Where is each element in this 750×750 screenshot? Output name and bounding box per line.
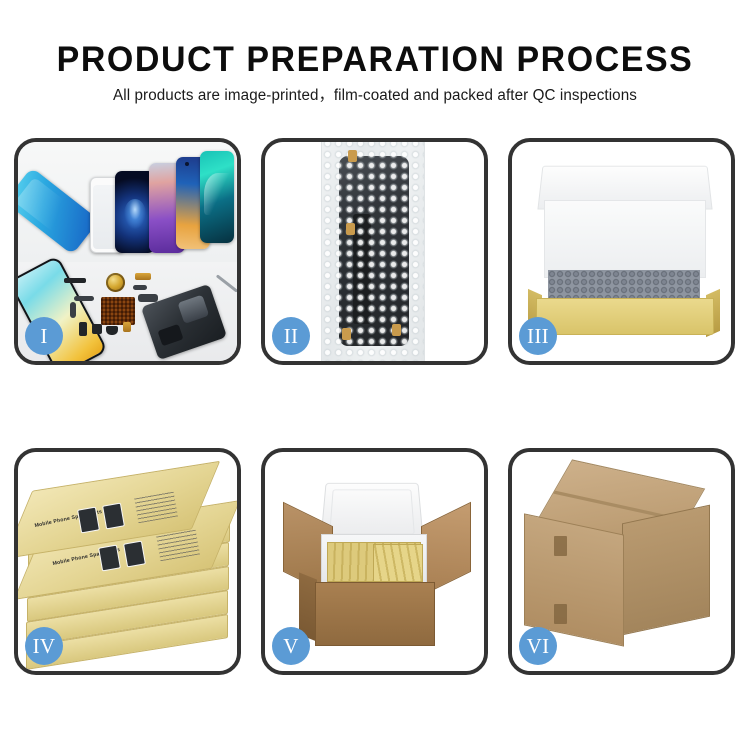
box-window-upper-1 <box>77 507 100 534</box>
flex-cable-part-icon <box>133 285 147 290</box>
page-title: PRODUCT PREPARATION PROCESS <box>11 40 739 80</box>
chip-array-part-icon <box>101 297 135 325</box>
step-panel-1[interactable]: I <box>14 138 241 365</box>
gold-contact-part-icon <box>123 322 131 332</box>
step-badge-2: II <box>272 317 310 355</box>
box-window-lower-2 <box>123 541 146 568</box>
box-window-lower-1 <box>98 545 121 572</box>
taptic-part-icon <box>106 326 118 335</box>
process-steps-grid: I II <box>14 138 736 675</box>
step-badge-1: I <box>25 317 63 355</box>
connector-part-icon <box>70 302 76 318</box>
carton-front-face <box>315 582 435 646</box>
step-panel-3[interactable]: III <box>508 138 735 365</box>
box-back-wall <box>544 200 706 278</box>
tape-dot-bottom-right <box>392 324 401 336</box>
teal-swirl-phone-icon <box>200 151 234 243</box>
sim-tray-part-icon <box>79 322 87 336</box>
gold-flex-part-icon <box>135 273 151 280</box>
tape-dot-bottom-left <box>342 328 351 340</box>
camera-flex-part-icon <box>138 294 158 302</box>
carton-right-face <box>622 505 710 636</box>
step-badge-3: III <box>519 317 557 355</box>
tape-strip-upper <box>554 536 567 556</box>
small-flex-part-icon <box>74 296 94 301</box>
step-badge-5: V <box>272 627 310 665</box>
step-panel-5[interactable]: V <box>261 448 488 675</box>
header: PRODUCT PREPARATION PROCESS All products… <box>0 40 750 106</box>
step-panel-4[interactable]: Mobile Phone Spare Parts Mobile Phone Sp… <box>14 448 241 675</box>
step-panel-6[interactable]: VI <box>508 448 735 675</box>
page-subtitle: All products are image-printed，film-coat… <box>8 86 743 106</box>
vibration-motor-part-icon <box>106 273 125 292</box>
speaker-part-icon <box>64 278 86 283</box>
step-badge-4: IV <box>25 627 63 665</box>
step-badge-6: VI <box>519 627 557 665</box>
tape-dot-top <box>348 150 357 162</box>
tape-dot-middle <box>346 223 355 235</box>
step-panel-2[interactable]: II <box>261 138 488 365</box>
bubble-texture <box>322 142 424 361</box>
bubble-wrap-bag-icon <box>321 142 425 361</box>
box-tray-front <box>536 298 714 335</box>
tape-strip-lower <box>554 604 567 624</box>
box-window-upper-2 <box>102 503 125 530</box>
product-preparation-infographic: PRODUCT PREPARATION PROCESS All products… <box>0 0 750 750</box>
packed-retail-boxes-row-2 <box>373 544 423 582</box>
button-part-icon <box>92 324 102 334</box>
